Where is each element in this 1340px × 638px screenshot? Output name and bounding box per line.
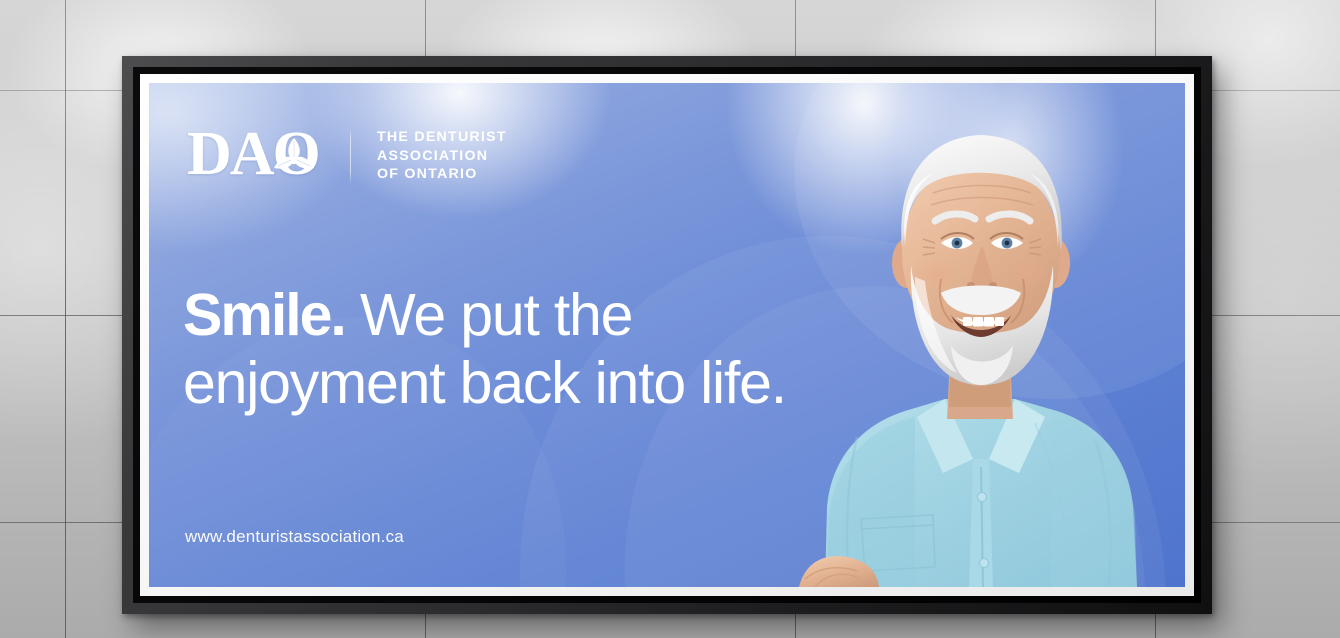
poster-mat-border: DAO [140,74,1194,596]
trillium-flower-icon [272,137,316,179]
poster-headline: Smile. We put the enjoyment back into li… [183,281,883,417]
frame-inner-bevel: DAO [133,67,1201,603]
wall-grout-vertical [65,0,66,638]
org-line-3: OF ONTARIO [377,165,507,184]
headline-emphasis: Smile. [183,282,345,348]
headline-line-2: enjoyment back into life. [183,350,786,416]
logo-divider-rule [350,128,351,184]
dao-wordmark-with-trillium: DAO [187,125,332,187]
headline-line-1-rest: We put the [345,282,632,348]
advertisement-poster: DAO [149,83,1185,587]
org-line-1: THE DENTURIST [377,128,507,147]
organization-name: THE DENTURIST ASSOCIATION OF ONTARIO [377,128,507,184]
billboard-frame: DAO [122,56,1212,614]
website-url[interactable]: www.denturistassociation.ca [185,527,404,547]
dao-logo-lockup: DAO [187,125,507,187]
org-line-2: ASSOCIATION [377,147,507,166]
